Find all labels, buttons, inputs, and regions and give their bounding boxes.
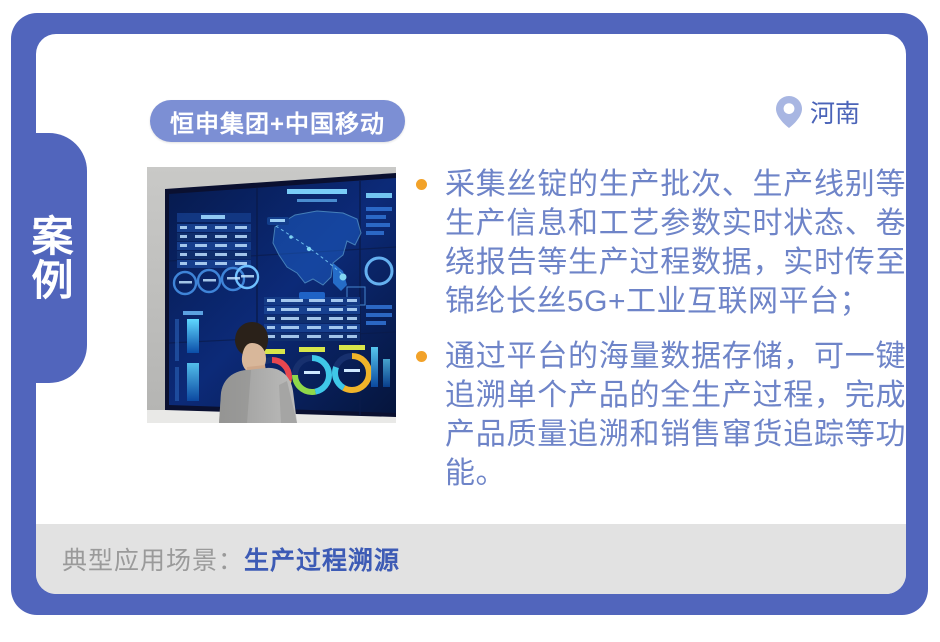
footer-bar: 典型应用场景： 生产过程溯源 xyxy=(36,524,906,594)
orange-dot-icon xyxy=(416,179,427,190)
footer-label: 典型应用场景： xyxy=(62,541,244,577)
bullet-list: 采集丝锭的生产批次、生产线别等生产信息和工艺参数实时状态、卷绕报告等生产过程数据… xyxy=(416,165,906,509)
case-photo xyxy=(147,167,396,423)
location-group: 河南 xyxy=(776,94,860,130)
bullet-text: 通过平台的海量数据存储，可一键追溯单个产品的全生产过程，完成产品质量追溯和销售窜… xyxy=(445,337,906,493)
list-item: 采集丝锭的生产批次、生产线别等生产信息和工艺参数实时状态、卷绕报告等生产过程数据… xyxy=(416,165,906,321)
side-tab-case: 案例 xyxy=(11,133,87,383)
case-study-slide: 恒申集团+中国移动 河南 xyxy=(0,0,940,642)
orange-dot-icon xyxy=(416,351,427,362)
bullet-text: 采集丝锭的生产批次、生产线别等生产信息和工艺参数实时状态、卷绕报告等生产过程数据… xyxy=(445,165,906,321)
location-label: 河南 xyxy=(810,94,860,130)
list-item: 通过平台的海量数据存储，可一键追溯单个产品的全生产过程，完成产品质量追溯和销售窜… xyxy=(416,337,906,493)
map-pin-icon xyxy=(776,96,802,128)
company-badge-label: 恒申集团+中国移动 xyxy=(170,104,385,139)
content-card: 恒申集团+中国移动 河南 xyxy=(36,34,906,594)
side-tab-label: 案例 xyxy=(27,214,71,302)
company-badge: 恒申集团+中国移动 xyxy=(150,100,405,142)
footer-highlight: 生产过程溯源 xyxy=(244,541,400,577)
